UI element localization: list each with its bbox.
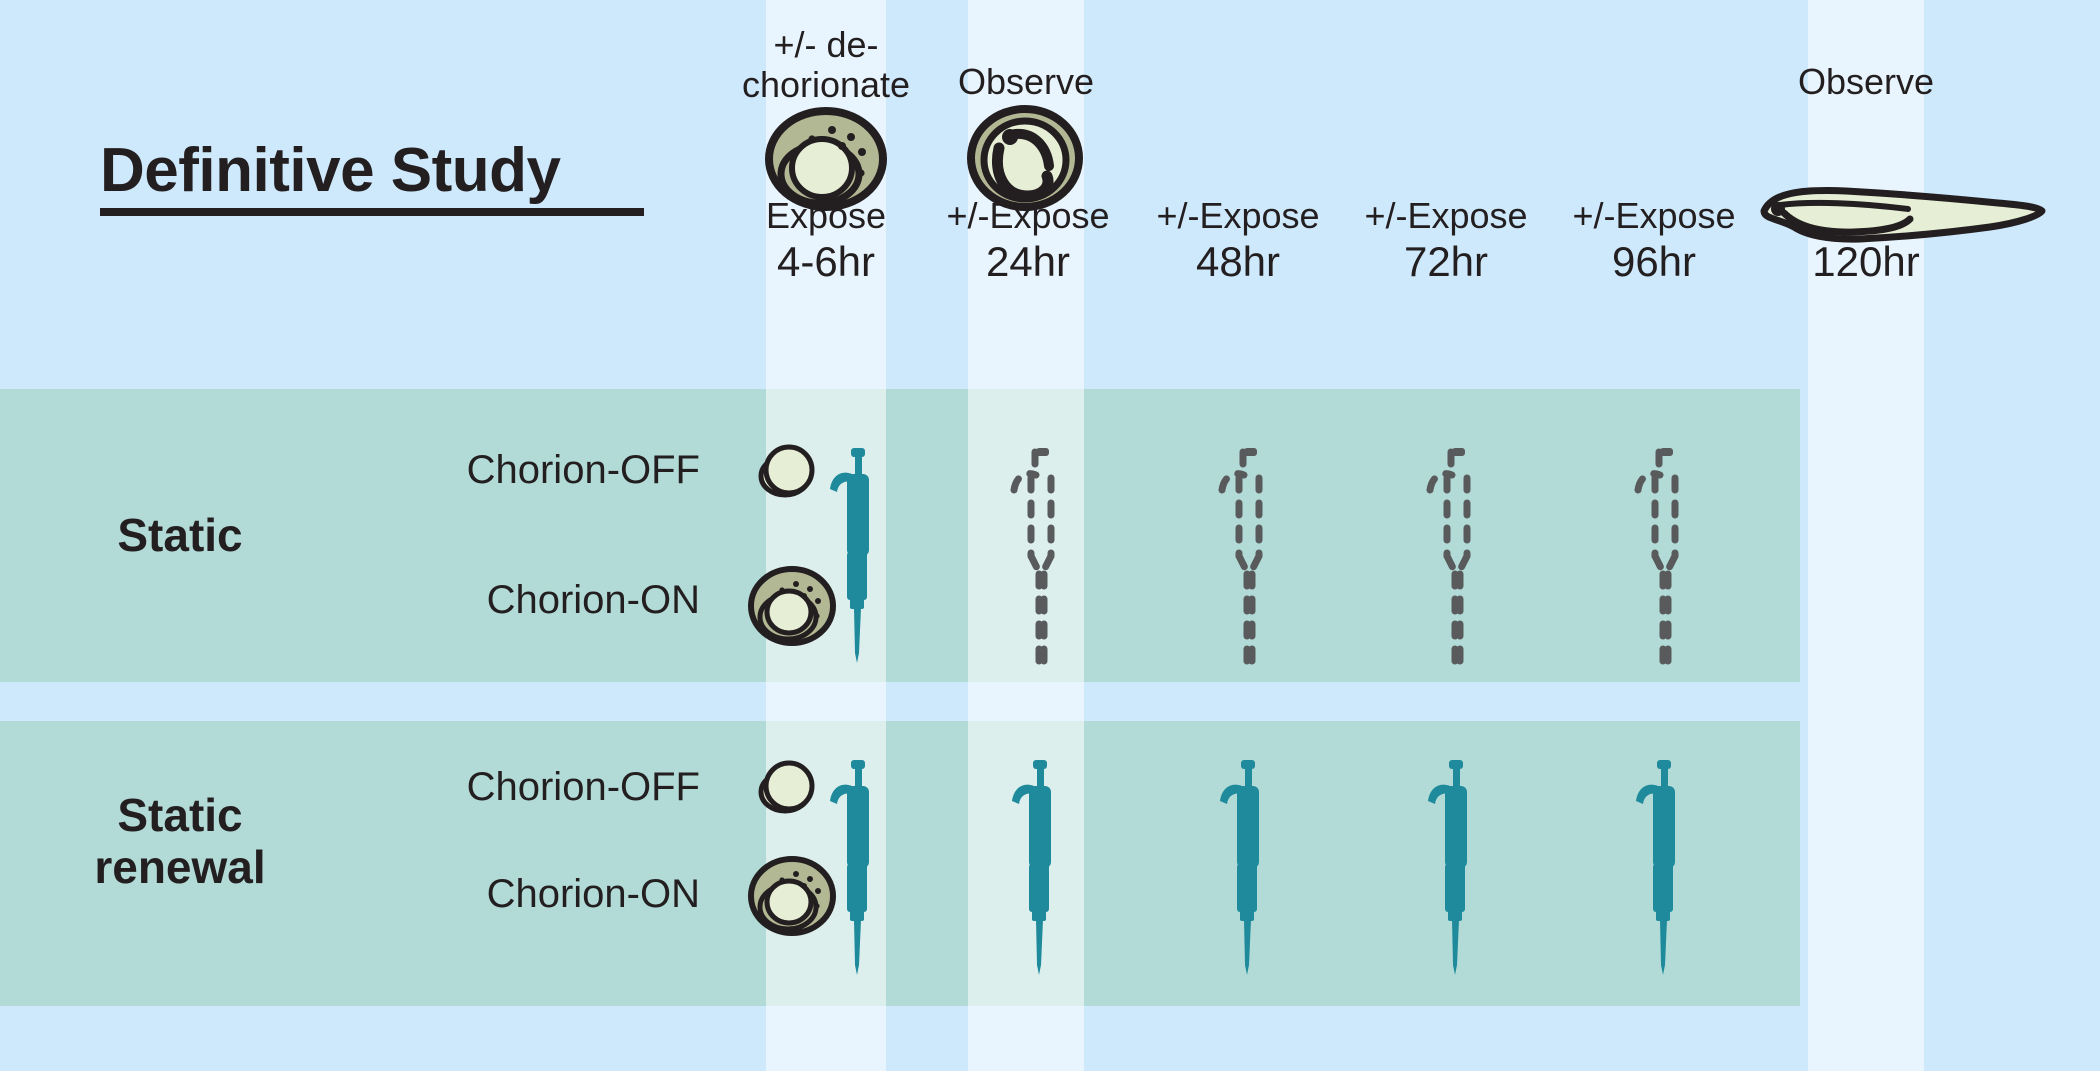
timepoint-stripe-120hr [1808, 0, 1924, 1071]
time-label-24hr: 24hr [930, 238, 1126, 286]
row-label-static-renewal-line1: Static [40, 790, 320, 842]
observe-note-24hr-text: Observe [928, 62, 1124, 102]
pipette-icon-renewal-72hr [1424, 760, 1484, 975]
static-chorion-on-label: Chorion-ON [300, 578, 700, 623]
dechorionate-note: +/- de- chorionate [726, 25, 926, 104]
renewal-chorion-on-label: Chorion-ON [300, 872, 700, 917]
dechorionate-note-line1: +/- de- [726, 25, 926, 65]
pipette-icon-dashed-static-72hr [1424, 448, 1488, 663]
static-chorion-off-label: Chorion-OFF [300, 448, 700, 493]
pipette-icon-static-4-6hr [826, 448, 886, 663]
figure-canvas: Definitive Study +/- de- chorionate Obse… [0, 0, 2100, 1071]
time-label-120hr: 120hr [1768, 238, 1964, 286]
dechorionated-embryo-icon [756, 756, 818, 818]
renewal-chorion-off-label: Chorion-OFF [300, 765, 700, 810]
observe-note-120hr-text: Observe [1768, 62, 1964, 102]
time-label-4-6hr: 4-6hr [746, 238, 906, 286]
figure-title: Definitive Study [100, 135, 644, 216]
pipette-icon-renewal-4-6hr [826, 760, 886, 975]
pipette-icon-renewal-24hr [1008, 760, 1068, 975]
time-label-96hr: 96hr [1556, 238, 1752, 286]
expose-label-96hr: +/-Expose [1556, 195, 1752, 237]
expose-label-4-6hr: Expose [746, 195, 906, 237]
pipette-icon-renewal-48hr [1216, 760, 1276, 975]
dechorionated-embryo-icon [756, 440, 818, 502]
expose-label-48hr: +/-Expose [1140, 195, 1336, 237]
observe-note-24hr: Observe [928, 62, 1124, 102]
row-label-static-renewal: Static renewal [40, 790, 320, 893]
dechorionate-note-line2: chorionate [726, 65, 926, 105]
time-label-48hr: 48hr [1140, 238, 1336, 286]
expose-label-24hr: +/-Expose [930, 195, 1126, 237]
chorion-egg-icon [746, 565, 838, 647]
expose-label-72hr: +/-Expose [1348, 195, 1544, 237]
pipette-icon-dashed-static-96hr [1632, 448, 1696, 663]
row-label-static-renewal-line2: renewal [40, 842, 320, 894]
chorion-egg-icon [746, 855, 838, 937]
observe-note-120hr: Observe [1768, 62, 1964, 102]
pipette-icon-dashed-static-48hr [1216, 448, 1280, 663]
figure-title-text: Definitive Study [100, 136, 561, 205]
pipette-icon-dashed-static-24hr [1008, 448, 1072, 663]
pipette-icon-renewal-96hr [1632, 760, 1692, 975]
row-label-static-line1: Static [40, 510, 320, 562]
title-underline [100, 208, 644, 216]
time-label-72hr: 72hr [1348, 238, 1544, 286]
row-label-static: Static [40, 510, 320, 562]
